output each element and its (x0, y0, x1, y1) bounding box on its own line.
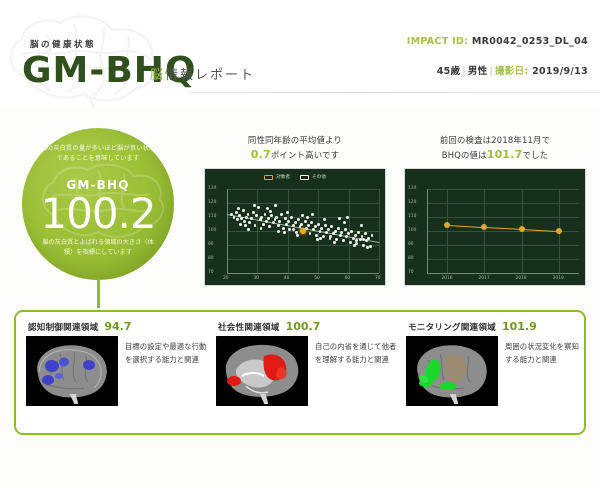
impact-id-row: IMPACT ID: MR0042_0253_DL_04 (407, 36, 588, 47)
scatter-point-other (309, 232, 312, 235)
trend-caption-line2a: BHQの値は (442, 150, 487, 160)
scatter-xtick-label: 70 (375, 276, 381, 281)
brain-image-cognitive-control (26, 336, 118, 406)
score-badge: 脳の灰白質の量が多いほど脳が良い状態であることを意味しています GM-BHQ 1… (14, 128, 182, 308)
scatter-point-other (260, 216, 263, 219)
trend-gridline-h (427, 203, 579, 204)
report-page: 脳の健康状態 GM-BHQ 脳情報レポート IMPACT ID: MR0042_… (0, 0, 600, 489)
trend-caption-date: 2018年11月 (491, 135, 541, 145)
region-card-cognitive-control[interactable]: 認知制御関連領域 94.7 (26, 320, 210, 428)
scatter-point-other (233, 216, 236, 219)
scatter-point-other (268, 225, 271, 228)
badge-bottom-text: 脳の灰白質とよばれる領域の大きさ（体積）を指標にしています (22, 238, 174, 257)
scatter-point-other (338, 217, 341, 220)
trend-point (519, 226, 525, 232)
scatter-point-other (367, 237, 370, 240)
scatter-point-other (310, 221, 313, 224)
scatter-ytick-label: 120 (208, 200, 216, 205)
scatter-point-other (253, 204, 256, 207)
scatter-point-other (250, 217, 253, 220)
meta-separator-2: | (487, 66, 495, 77)
region-score-2: 101.9 (502, 320, 537, 333)
scatter-chart-panel[interactable]: 対象者 その他 708090100110120130203040506070 (204, 168, 386, 286)
scatter-xtick-label: 60 (345, 276, 351, 281)
scatter-chart-block: 同性同年齢の平均値より 0.7ポイント高いです 対象者 その他 70809010… (204, 134, 386, 286)
scatter-point-other (320, 227, 323, 230)
scatter-point-other (248, 221, 251, 224)
scatter-caption-value: 0.7 (251, 148, 271, 161)
region-name-1: 社会性関連領域 (218, 321, 280, 333)
trend-xtick-label: 2017 (478, 276, 489, 281)
report-header: 脳の健康状態 GM-BHQ 脳情報レポート IMPACT ID: MR0042_… (0, 0, 600, 108)
scatter-point-subject (300, 228, 306, 234)
scan-date-value: 2019/9/13 (532, 66, 588, 77)
scatter-point-other (330, 225, 333, 228)
patient-meta-row: 45歳|男性|撮影日: 2019/9/13 (437, 63, 588, 77)
scatter-point-other (319, 237, 322, 240)
scatter-point-other (347, 232, 350, 235)
trend-ytick-label: 70 (408, 270, 414, 275)
badge-connector-stem (97, 278, 100, 308)
trend-ytick-label: 130 (408, 186, 416, 191)
scatter-point-other (311, 213, 314, 216)
trend-ytick-label: 110 (408, 214, 416, 219)
scatter-point-other (364, 232, 367, 235)
scatter-xtick-label: 30 (253, 276, 259, 281)
scatter-point-other (287, 220, 290, 223)
region-card-social[interactable]: 社会性関連領域 100.7 (216, 320, 400, 428)
badge-score-value: 100.2 (22, 188, 174, 241)
region-body-2: 周囲の状況変化を察知する能力と関連 (406, 336, 586, 406)
scatter-point-other (237, 207, 240, 210)
region-description-2: 周囲の状況変化を察知する能力と関連 (505, 336, 586, 406)
scatter-point-other (282, 227, 285, 230)
trend-caption-value: 101.7 (487, 148, 523, 161)
report-type-rest: 情報レポート (165, 68, 255, 83)
scan-date-label: 撮影日: (495, 66, 529, 77)
badge-top-text: 脳の灰白質の量が多いほど脳が良い状態であることを意味しています (22, 144, 174, 163)
scatter-gridline-v (257, 189, 258, 273)
scatter-point-other (280, 213, 283, 216)
scatter-point-other (236, 218, 239, 221)
scatter-ytick-label: 90 (208, 242, 214, 247)
scatter-point-other (340, 231, 343, 234)
scatter-point-other (285, 223, 288, 226)
scatter-point-other (306, 216, 309, 219)
scatter-point-other (329, 235, 332, 238)
trend-xtick-label: 2018 (516, 276, 527, 281)
scatter-point-other (349, 241, 352, 244)
report-type-label: 脳情報レポート (150, 64, 255, 83)
trend-line-segment (484, 227, 521, 230)
scatter-point-other (242, 209, 245, 212)
trend-point (481, 224, 487, 230)
scatter-point-other (360, 224, 363, 227)
patient-sex: 男性 (468, 66, 488, 77)
scatter-point-other (333, 241, 336, 244)
legend-swatch-subject-icon (264, 175, 273, 180)
scatter-point-other (267, 217, 270, 220)
scatter-point-other (262, 223, 265, 226)
region-title-1: 社会性関連領域 100.7 (216, 320, 400, 333)
scatter-point-other (371, 234, 374, 237)
scatter-point-other (277, 230, 280, 233)
trend-gridline-v (447, 189, 448, 273)
trend-yaxis (427, 189, 428, 273)
scatter-point-other (275, 216, 278, 219)
scatter-point-other (342, 239, 345, 242)
region-summary-box: 認知制御関連領域 94.7 (14, 310, 586, 435)
scatter-point-other (239, 223, 242, 226)
scatter-point-other (365, 239, 368, 242)
scatter-point-other (312, 228, 315, 231)
impact-id-value: MR0042_0253_DL_04 (472, 36, 588, 47)
scatter-gridline-v (379, 189, 380, 273)
scatter-point-other (247, 213, 250, 216)
trend-gridline-h (427, 217, 579, 218)
scatter-point-other (245, 216, 248, 219)
trend-caption: 前回の検査は2018年11月で BHQの値は101.7でした (404, 134, 586, 163)
scatter-xtick-label: 50 (314, 276, 320, 281)
scatter-point-other (284, 217, 287, 220)
scatter-point-other (339, 234, 342, 237)
region-description-1: 自己の内省を通じて他者を理解する能力と関連 (315, 336, 400, 406)
scatter-point-other (324, 224, 327, 227)
scatter-caption: 同性同年齢の平均値より 0.7ポイント高いです (204, 134, 386, 163)
scatter-point-other (274, 204, 277, 207)
scatter-point-other (337, 227, 340, 230)
meta-separator-1: | (460, 66, 468, 77)
region-body-0: 目標の設定や最適な行動を選択する能力と関連 (26, 336, 210, 406)
legend-label-other: その他 (312, 174, 326, 180)
scatter-point-other (346, 216, 349, 219)
scatter-ytick-label: 80 (208, 256, 214, 261)
scatter-xtick-label: 40 (284, 276, 290, 281)
scatter-point-other (269, 210, 272, 213)
impact-id-label: IMPACT ID: (407, 36, 468, 47)
scatter-point-other (266, 207, 269, 210)
trend-xtick-label: 2019 (553, 276, 564, 281)
scatter-caption-line1: 同性同年齢の平均値より (248, 135, 342, 145)
scatter-point-other (334, 230, 337, 233)
scatter-point-other (362, 244, 365, 247)
scatter-point-other (315, 234, 318, 237)
trend-ytick-label: 80 (408, 256, 414, 261)
scatter-point-other (301, 214, 304, 217)
region-name-2: モニタリング関連領域 (408, 321, 496, 333)
scatter-point-other (290, 216, 293, 219)
trend-point (444, 222, 450, 228)
scatter-point-other (272, 221, 275, 224)
scatter-point-other (297, 218, 300, 221)
trend-line-segment (447, 225, 484, 228)
scatter-point-other (283, 231, 286, 234)
region-title-0: 認知制御関連領域 94.7 (26, 320, 210, 333)
legend-item-subject: 対象者 (264, 174, 290, 180)
scatter-point-other (350, 230, 353, 233)
scatter-point-other (265, 220, 268, 223)
trend-ytick-label: 120 (408, 200, 416, 205)
scatter-point-other (335, 238, 338, 241)
report-type-head: 脳 (150, 68, 165, 83)
scatter-point-other (354, 234, 357, 237)
trend-chart-panel[interactable]: 7080901001101201302016201720182019 (404, 168, 586, 286)
trend-chart-block: 前回の検査は2018年11月で BHQの値は101.7でした 708090100… (404, 134, 586, 286)
scatter-point-other (278, 220, 281, 223)
trend-xtick-label: 2016 (441, 276, 452, 281)
header-divider (188, 92, 600, 93)
scatter-point-other (252, 211, 255, 214)
scatter-point-other (286, 211, 289, 214)
scatter-point-other (243, 220, 246, 223)
scatter-point-other (307, 224, 310, 227)
scatter-gridline-v (288, 189, 289, 273)
trend-gridline-h (427, 259, 579, 260)
region-description-0: 目標の設定や最適な行動を選択する能力と関連 (125, 336, 210, 406)
scatter-ytick-label: 130 (208, 186, 216, 191)
patient-age: 45歳 (437, 66, 461, 77)
scatter-point-other (317, 223, 320, 226)
scatter-point-other (294, 221, 297, 224)
scatter-gridline-h (227, 203, 379, 204)
region-name-0: 認知制御関連領域 (28, 321, 98, 333)
scatter-xtick-label: 20 (223, 276, 229, 281)
scatter-point-other (264, 213, 267, 216)
scatter-point-other (323, 218, 326, 221)
scatter-point-other (260, 227, 263, 230)
scatter-point-other (357, 231, 360, 234)
scatter-point-other (343, 221, 346, 224)
scatter-gridline-v (349, 189, 350, 273)
scatter-gridline-h (227, 245, 379, 246)
region-body-1: 自己の内省を通じて他者を理解する能力と関連 (216, 336, 400, 406)
scatter-point-other (322, 235, 325, 238)
scatter-point-other (366, 246, 369, 249)
header-subtitle: 脳の健康状態 (30, 38, 96, 50)
scatter-xaxis (227, 273, 379, 274)
scatter-point-other (254, 224, 257, 227)
scatter-point-other (277, 224, 280, 227)
scatter-point-other (257, 206, 260, 209)
scatter-legend: 対象者 その他 (205, 174, 385, 180)
legend-label-subject: 対象者 (276, 174, 290, 180)
scatter-ytick-label: 110 (208, 214, 216, 219)
scatter-point-other (314, 225, 317, 228)
trend-gridline-h (427, 245, 579, 246)
legend-item-other: その他 (300, 174, 326, 180)
legend-swatch-other-icon (300, 175, 309, 180)
trend-ytick-label: 90 (408, 242, 414, 247)
brain-image-social (216, 336, 308, 406)
trend-xaxis (427, 273, 579, 274)
scatter-caption-line2: ポイント高いです (271, 150, 339, 160)
trend-caption-line1a: 前回の検査は (440, 135, 491, 145)
scatter-gridline-h (227, 259, 379, 260)
trend-caption-line2b: でした (523, 150, 549, 160)
trend-gridline-v (484, 189, 485, 273)
scatter-point-other (359, 238, 362, 241)
scatter-point-other (304, 220, 307, 223)
scatter-point-other (353, 244, 356, 247)
scatter-point-other (292, 224, 295, 227)
scatter-gridline-h (227, 189, 379, 190)
scatter-point-other (369, 245, 372, 248)
scatter-point-other (296, 234, 299, 237)
score-badge-circle: 脳の灰白質の量が多いほど脳が良い状態であることを意味しています GM-BHQ 1… (22, 128, 174, 280)
region-score-1: 100.7 (286, 320, 321, 333)
scatter-point-other (274, 218, 277, 221)
scatter-yaxis (227, 189, 228, 273)
scatter-point-other (244, 224, 247, 227)
trend-caption-line1c: で (542, 135, 551, 145)
region-score-0: 94.7 (104, 320, 131, 333)
scatter-point-other (344, 228, 347, 231)
region-card-monitoring[interactable]: モニタリング関連領域 101.9 (406, 320, 586, 428)
scatter-ytick-label: 100 (208, 228, 216, 233)
brain-image-monitoring (406, 336, 498, 406)
trend-point (556, 228, 562, 234)
trend-ytick-label: 100 (408, 228, 416, 233)
trend-gridline-h (427, 189, 579, 190)
scatter-point-other (300, 223, 303, 226)
scatter-ytick-label: 70 (208, 270, 214, 275)
region-title-2: モニタリング関連領域 101.9 (406, 320, 586, 333)
